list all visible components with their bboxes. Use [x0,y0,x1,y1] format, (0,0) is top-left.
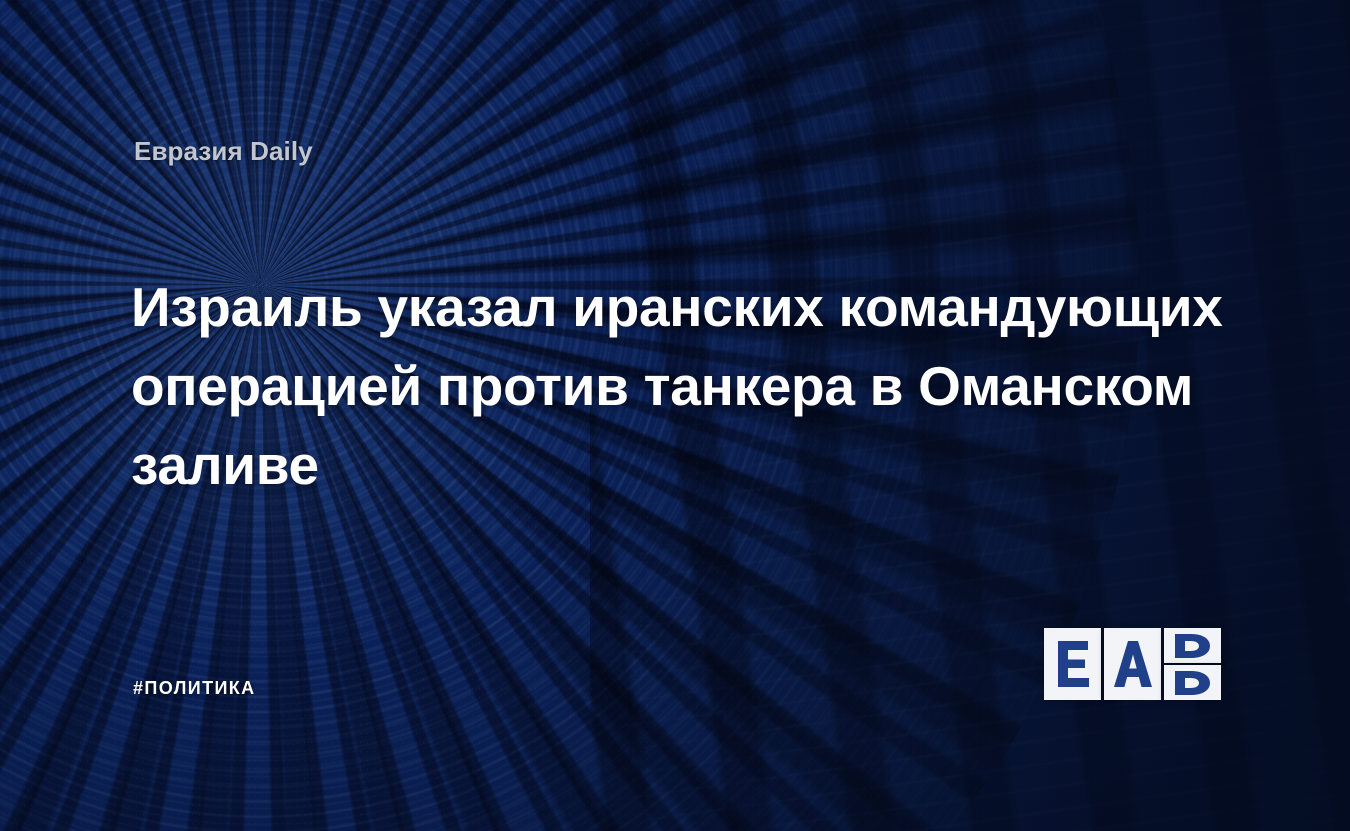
letter-d-lower-icon [1172,670,1214,696]
logo-tile-e [1044,628,1101,700]
logo-tile-a [1104,628,1161,700]
logo-tile-stack [1164,628,1221,700]
news-card: Евразия Daily Израиль указал иранских ко… [0,0,1350,831]
card-content: Евразия Daily Израиль указал иранских ко… [0,0,1350,831]
letter-d-upper-icon [1172,633,1214,659]
logo-tile-d-lower [1164,665,1221,700]
eadaily-logo[interactable] [1044,628,1221,700]
logo-tile-d-upper [1164,628,1221,663]
page-title: Израиль указал иранских командующих опер… [131,268,1241,505]
category-tag[interactable]: #ПОЛИТИКА [133,678,256,699]
letter-a-icon [1112,639,1154,689]
letter-e-icon [1054,639,1092,689]
masthead-brand[interactable]: Евразия Daily [134,136,313,167]
